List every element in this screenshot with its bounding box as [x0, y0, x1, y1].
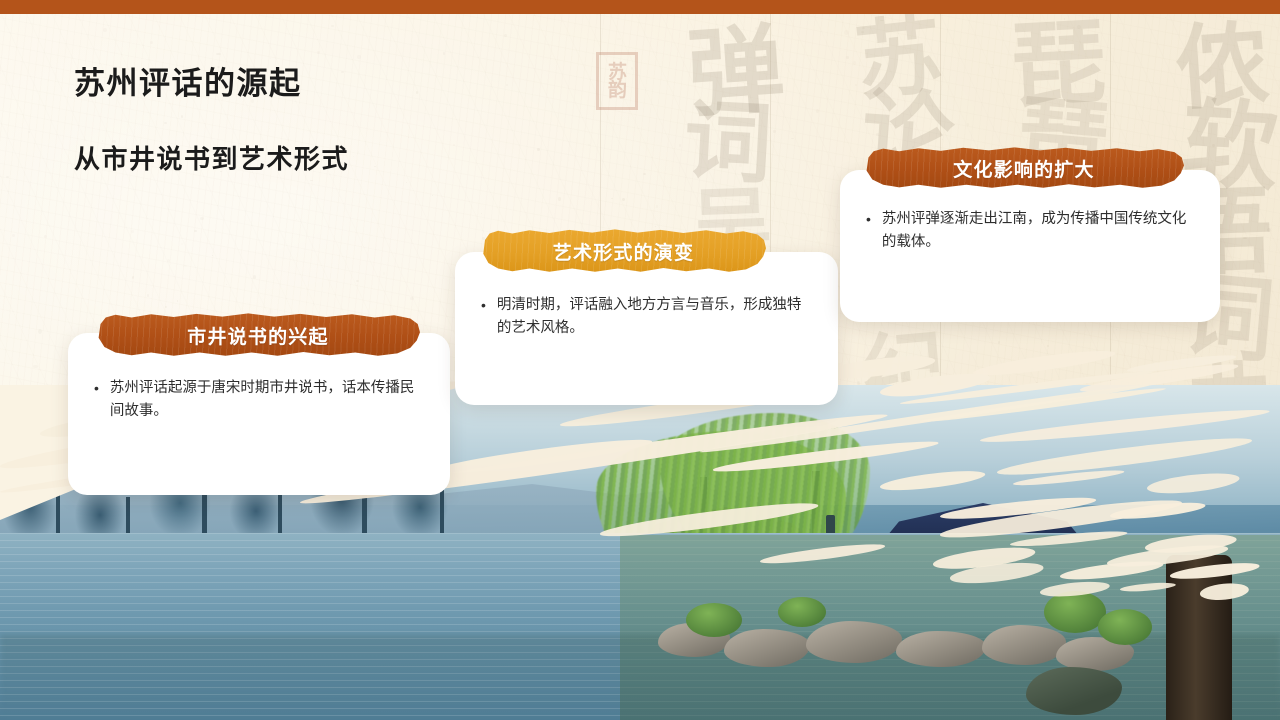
card-text: 苏州评话起源于唐宋时期市井说书，话本传播民间故事。 — [110, 377, 426, 424]
seal-stamp: 苏 韵 — [596, 52, 638, 110]
watermark-char: 词 — [682, 96, 775, 188]
bullet-icon: • — [481, 294, 486, 341]
bullet-icon: • — [866, 208, 871, 255]
card-heading: 市井说书的兴起 — [187, 322, 328, 349]
page-subtitle: 从市井说书到艺术形式 — [74, 139, 349, 176]
top-accent-bar — [0, 0, 1280, 14]
card-text: 明清时期，评话融入地方方言与音乐，形成独特的艺术风格。 — [497, 294, 814, 341]
card-body: • 苏州评话起源于唐宋时期市井说书，话本传播民间故事。 — [94, 377, 426, 424]
page-title: 苏州评话的源起 — [74, 58, 349, 103]
card-kuoda-banner: 文化影响的扩大 — [864, 146, 1184, 190]
slide-root: 弹 词 苏 论 琵 琶 吴 细 纪 侬 软 语 词 曲 苏 韵 — [0, 0, 1280, 720]
card-shijing-banner: 市井说书的兴起 — [96, 312, 420, 358]
bullet-icon: • — [94, 377, 99, 424]
card-yanbian-banner: 艺术形式的演变 — [481, 228, 766, 274]
card-text: 苏州评弹逐渐走出江南，成为传播中国传统文化的载体。 — [882, 208, 1196, 255]
title-block: 苏州评话的源起 从市井说书到艺术形式 — [74, 58, 349, 176]
card-heading: 艺术形式的演变 — [553, 238, 694, 265]
card-body: • 苏州评弹逐渐走出江南，成为传播中国传统文化的载体。 — [866, 208, 1196, 255]
card-yishu-yanbian[interactable]: • 明清时期，评话融入地方方言与音乐，形成独特的艺术风格。 — [455, 252, 838, 405]
card-heading: 文化影响的扩大 — [953, 155, 1094, 182]
card-wenhua-kuoda[interactable]: • 苏州评弹逐渐走出江南，成为传播中国传统文化的载体。 — [840, 170, 1220, 322]
card-body: • 明清时期，评话融入地方方言与音乐，形成独特的艺术风格。 — [481, 294, 814, 341]
seal-line-2: 韵 — [608, 81, 626, 99]
